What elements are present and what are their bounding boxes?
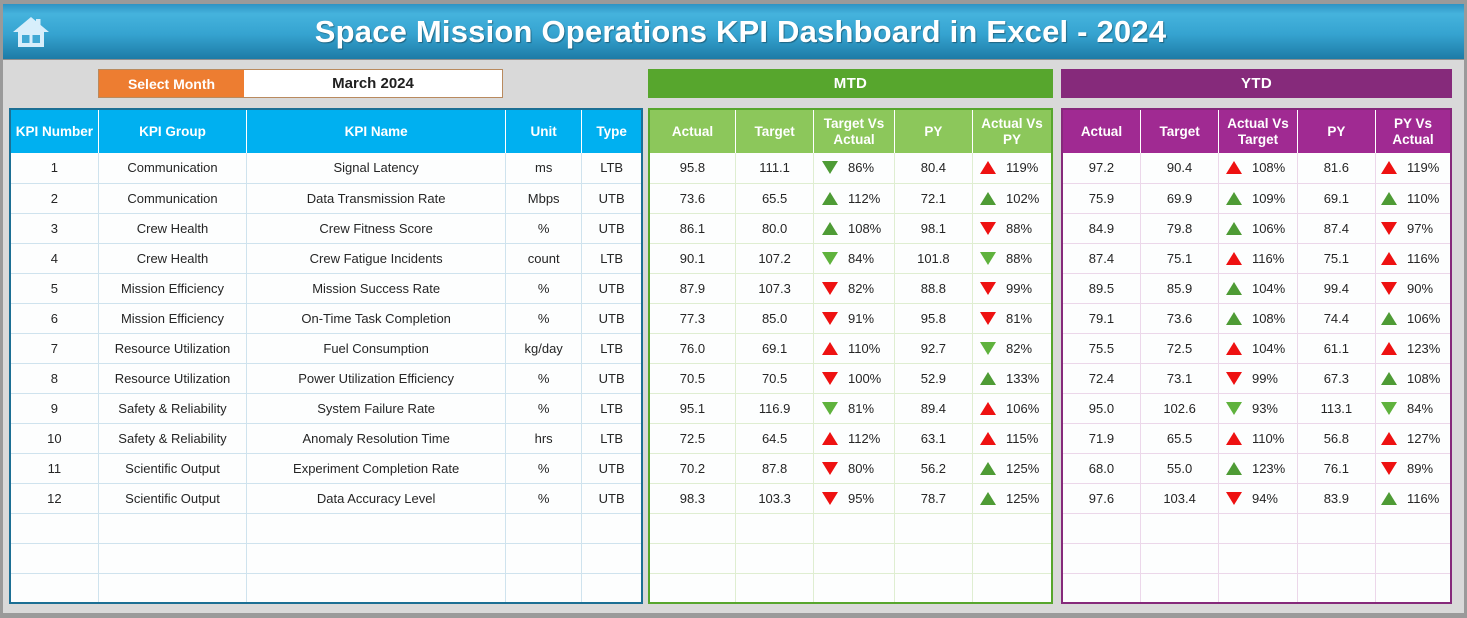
- table-row[interactable]: 70.287.880%56.2125%: [649, 453, 1052, 483]
- mtd-actual-vs-py: [973, 513, 1052, 543]
- kpi-unit: kg/day: [506, 333, 582, 363]
- table-row[interactable]: 9Safety & ReliabilitySystem Failure Rate…: [10, 393, 642, 423]
- ytd-actual-vs-target-value: 106%: [1252, 221, 1290, 236]
- kpi-unit: %: [506, 213, 582, 243]
- table-row[interactable]: 95.8111.186%80.4119%: [649, 153, 1052, 183]
- kpi-group: Scientific Output: [98, 483, 246, 513]
- table-row[interactable]: 76.069.1110%92.782%: [649, 333, 1052, 363]
- trend-up-red-icon: [822, 342, 838, 355]
- col-header-unit[interactable]: Unit: [506, 109, 582, 153]
- table-row[interactable]: 72.564.5112%63.1115%: [649, 423, 1052, 453]
- kpi-group: Crew Health: [98, 213, 246, 243]
- col-header-kpi-name[interactable]: KPI Name: [247, 109, 506, 153]
- mtd-target: 80.0: [735, 213, 813, 243]
- trend-up-red-icon: [1381, 342, 1397, 355]
- kpi-group: Resource Utilization: [98, 363, 246, 393]
- kpi-type: UTB: [582, 483, 642, 513]
- mtd-actual: 77.3: [649, 303, 735, 333]
- ytd-actual: [1062, 543, 1140, 573]
- mtd-py: 80.4: [894, 153, 972, 183]
- ytd-target: 65.5: [1140, 423, 1218, 453]
- kpi-number: 2: [10, 183, 98, 213]
- home-icon[interactable]: [5, 6, 57, 58]
- title-banner: Space Mission Operations KPI Dashboard i…: [3, 4, 1464, 60]
- kpi-type: LTB: [582, 243, 642, 273]
- kpi-number: 1: [10, 153, 98, 183]
- kpi-group: Safety & Reliability: [98, 393, 246, 423]
- mtd-py: [894, 573, 972, 603]
- table-row[interactable]: 72.473.199%67.3108%: [1062, 363, 1451, 393]
- ytd-py-vs-actual-value: 97%: [1407, 221, 1445, 236]
- kpi-name: Crew Fitness Score: [247, 213, 506, 243]
- table-row[interactable]: 89.585.9104%99.490%: [1062, 273, 1451, 303]
- mtd-actual-vs-py-value: 125%: [1006, 491, 1044, 506]
- kpi-name: [247, 513, 506, 543]
- ytd-py-vs-actual: 110%: [1376, 183, 1451, 213]
- ytd-actual: 75.5: [1062, 333, 1140, 363]
- mtd-table: ActualTargetTarget Vs ActualPYActual Vs …: [648, 108, 1053, 604]
- trend-up-green-icon: [980, 462, 996, 475]
- mtd-actual-vs-py: 125%: [973, 453, 1052, 483]
- ytd-col-header-py-vs-actual[interactable]: PY Vs Actual: [1376, 109, 1451, 153]
- ytd-target: 73.1: [1140, 363, 1218, 393]
- ytd-py: 76.1: [1297, 453, 1375, 483]
- mtd-actual: 72.5: [649, 423, 735, 453]
- trend-down-red-icon: [822, 462, 838, 475]
- mtd-target-vs-actual: 91%: [814, 303, 894, 333]
- table-row[interactable]: 95.0102.693%113.184%: [1062, 393, 1451, 423]
- kpi-type: [582, 513, 642, 543]
- trend-down-red-icon: [1226, 492, 1242, 505]
- mtd-actual-vs-py: 133%: [973, 363, 1052, 393]
- trend-down-red-icon: [1226, 372, 1242, 385]
- table-row[interactable]: 71.965.5110%56.8127%: [1062, 423, 1451, 453]
- kpi-number: 7: [10, 333, 98, 363]
- mtd-actual: 70.2: [649, 453, 735, 483]
- kpi-unit: [506, 543, 582, 573]
- mtd-target-vs-actual-value: 108%: [848, 221, 886, 236]
- mtd-actual-vs-py: 115%: [973, 423, 1052, 453]
- ytd-actual-vs-target: [1219, 543, 1297, 573]
- mtd-body: 95.8111.186%80.4119%73.665.5112%72.1102%…: [649, 153, 1052, 603]
- ytd-actual-vs-target-value: 104%: [1252, 341, 1290, 356]
- control-strip: Select Month March 2024 MTD YTD: [3, 64, 1464, 102]
- table-row[interactable]: 77.385.091%95.881%: [649, 303, 1052, 333]
- mtd-py: 95.8: [894, 303, 972, 333]
- kpi-name: Data Accuracy Level: [247, 483, 506, 513]
- mtd-col-header-target[interactable]: Target: [735, 109, 813, 153]
- table-row[interactable]: 70.570.5100%52.9133%: [649, 363, 1052, 393]
- table-row[interactable]: 90.1107.284%101.888%: [649, 243, 1052, 273]
- ytd-py-vs-actual: 106%: [1376, 303, 1451, 333]
- kpi-name: Experiment Completion Rate: [247, 453, 506, 483]
- mtd-target: 116.9: [735, 393, 813, 423]
- kpi-type: UTB: [582, 183, 642, 213]
- mtd-actual-vs-py-value: 125%: [1006, 461, 1044, 476]
- mtd-target-vs-actual-value: 84%: [848, 251, 886, 266]
- ytd-py-vs-actual: 116%: [1376, 483, 1451, 513]
- trend-up-green-icon: [1381, 492, 1397, 505]
- ytd-actual: 87.4: [1062, 243, 1140, 273]
- mtd-target-vs-actual-value: 82%: [848, 281, 886, 296]
- table-row[interactable]: [10, 513, 642, 543]
- ytd-col-header-py[interactable]: PY: [1297, 109, 1375, 153]
- mtd-target-vs-actual-value: 80%: [848, 461, 886, 476]
- ytd-py: 67.3: [1297, 363, 1375, 393]
- ytd-py: 56.8: [1297, 423, 1375, 453]
- ytd-py-vs-actual-value: 90%: [1407, 281, 1445, 296]
- kpi-type: UTB: [582, 453, 642, 483]
- ytd-actual-vs-target-value: 104%: [1252, 281, 1290, 296]
- ytd-target: 72.5: [1140, 333, 1218, 363]
- mtd-actual: 86.1: [649, 213, 735, 243]
- table-row[interactable]: 1CommunicationSignal LatencymsLTB: [10, 153, 642, 183]
- kpi-number: 6: [10, 303, 98, 333]
- mtd-actual-vs-py: 82%: [973, 333, 1052, 363]
- ytd-actual-vs-target-value: 108%: [1252, 160, 1290, 175]
- ytd-py-vs-actual: 127%: [1376, 423, 1451, 453]
- mtd-col-header-target-vs-actual[interactable]: Target Vs Actual: [814, 109, 894, 153]
- kpi-number: [10, 513, 98, 543]
- ytd-py-vs-actual: 123%: [1376, 333, 1451, 363]
- ytd-py: 113.1: [1297, 393, 1375, 423]
- kpi-type: UTB: [582, 273, 642, 303]
- ytd-actual-vs-target: 104%: [1219, 333, 1297, 363]
- ytd-section-band: YTD: [1061, 69, 1452, 98]
- ytd-py-vs-actual-value: 123%: [1407, 341, 1445, 356]
- mtd-actual-vs-py-value: 82%: [1006, 341, 1044, 356]
- ytd-py-vs-actual-value: 116%: [1407, 251, 1445, 266]
- kpi-group: Crew Health: [98, 243, 246, 273]
- ytd-col-header-actual-vs-target[interactable]: Actual Vs Target: [1219, 109, 1297, 153]
- table-row[interactable]: 75.969.9109%69.1110%: [1062, 183, 1451, 213]
- ytd-actual: 95.0: [1062, 393, 1140, 423]
- col-header-kpi-group[interactable]: KPI Group: [98, 109, 246, 153]
- mtd-target-vs-actual: 112%: [814, 183, 894, 213]
- trend-down-lgreen-icon: [1226, 402, 1242, 415]
- ytd-actual: 68.0: [1062, 453, 1140, 483]
- kpi-number: 4: [10, 243, 98, 273]
- mtd-target-vs-actual-value: 100%: [848, 371, 886, 386]
- kpi-number: 5: [10, 273, 98, 303]
- ytd-col-header-target[interactable]: Target: [1140, 109, 1218, 153]
- mtd-actual: 95.1: [649, 393, 735, 423]
- ytd-py: 99.4: [1297, 273, 1375, 303]
- ytd-py-vs-actual: 116%: [1376, 243, 1451, 273]
- ytd-target: 79.8: [1140, 213, 1218, 243]
- ytd-actual: 71.9: [1062, 423, 1140, 453]
- ytd-py: 69.1: [1297, 183, 1375, 213]
- mtd-target-vs-actual: [814, 573, 894, 603]
- kpi-unit: Mbps: [506, 183, 582, 213]
- table-row[interactable]: 4Crew HealthCrew Fatigue IncidentscountL…: [10, 243, 642, 273]
- mtd-col-header-py[interactable]: PY: [894, 109, 972, 153]
- ytd-actual-vs-target-value: 94%: [1252, 491, 1290, 506]
- ytd-header-row: ActualTargetActual Vs TargetPYPY Vs Actu…: [1062, 109, 1451, 153]
- trend-down-lgreen-icon: [822, 402, 838, 415]
- ytd-target: 69.9: [1140, 183, 1218, 213]
- mtd-target: 107.3: [735, 273, 813, 303]
- kpi-number: 9: [10, 393, 98, 423]
- ytd-actual: 72.4: [1062, 363, 1140, 393]
- mtd-py: 78.7: [894, 483, 972, 513]
- table-row[interactable]: 10Safety & ReliabilityAnomaly Resolution…: [10, 423, 642, 453]
- table-row[interactable]: [649, 543, 1052, 573]
- ytd-actual: 97.2: [1062, 153, 1140, 183]
- kpi-group: [98, 573, 246, 603]
- trend-up-green-icon: [1226, 312, 1242, 325]
- trend-down-red-icon: [822, 492, 838, 505]
- table-row[interactable]: 3Crew HealthCrew Fitness Score%UTB: [10, 213, 642, 243]
- table-row[interactable]: 97.6103.494%83.9116%: [1062, 483, 1451, 513]
- mtd-actual: 70.5: [649, 363, 735, 393]
- ytd-py-vs-actual-value: 110%: [1407, 191, 1445, 206]
- mtd-actual-vs-py-value: 133%: [1006, 371, 1044, 386]
- trend-up-green-icon: [1381, 372, 1397, 385]
- mtd-py: 101.8: [894, 243, 972, 273]
- ytd-target: 73.6: [1140, 303, 1218, 333]
- ytd-actual-vs-target: 123%: [1219, 453, 1297, 483]
- ytd-py: [1297, 543, 1375, 573]
- kpi-unit: %: [506, 393, 582, 423]
- kpi-group: Safety & Reliability: [98, 423, 246, 453]
- kpi-unit: %: [506, 453, 582, 483]
- trend-up-green-icon: [822, 222, 838, 235]
- ytd-actual: 75.9: [1062, 183, 1140, 213]
- table-row[interactable]: [1062, 573, 1451, 603]
- mtd-target: 70.5: [735, 363, 813, 393]
- table-row[interactable]: 7Resource UtilizationFuel Consumptionkg/…: [10, 333, 642, 363]
- ytd-target: 90.4: [1140, 153, 1218, 183]
- trend-up-red-icon: [980, 402, 996, 415]
- table-row[interactable]: 87.9107.382%88.899%: [649, 273, 1052, 303]
- ytd-actual-vs-target: 93%: [1219, 393, 1297, 423]
- ytd-actual: 79.1: [1062, 303, 1140, 333]
- kpi-type: LTB: [582, 333, 642, 363]
- kpi-name: On-Time Task Completion: [247, 303, 506, 333]
- mtd-target-vs-actual: 112%: [814, 423, 894, 453]
- ytd-col-header-actual[interactable]: Actual: [1062, 109, 1140, 153]
- mtd-target-vs-actual-value: 86%: [848, 160, 886, 175]
- table-row[interactable]: 12Scientific OutputData Accuracy Level%U…: [10, 483, 642, 513]
- ytd-target: 85.9: [1140, 273, 1218, 303]
- table-row[interactable]: 86.180.0108%98.188%: [649, 213, 1052, 243]
- table-row[interactable]: [10, 573, 642, 603]
- mtd-target-vs-actual: [814, 513, 894, 543]
- ytd-py-vs-actual: 108%: [1376, 363, 1451, 393]
- mtd-py: 63.1: [894, 423, 972, 453]
- mtd-target-vs-actual: 84%: [814, 243, 894, 273]
- mtd-actual-vs-py-value: 99%: [1006, 281, 1044, 296]
- ytd-py: 83.9: [1297, 483, 1375, 513]
- mtd-py: 92.7: [894, 333, 972, 363]
- mtd-actual-vs-py-value: 102%: [1006, 191, 1044, 206]
- ytd-py: 61.1: [1297, 333, 1375, 363]
- mtd-actual-vs-py-value: 88%: [1006, 221, 1044, 236]
- table-row[interactable]: 11Scientific OutputExperiment Completion…: [10, 453, 642, 483]
- mtd-header-row: ActualTargetTarget Vs ActualPYActual Vs …: [649, 109, 1052, 153]
- table-row[interactable]: 8Resource UtilizationPower Utilization E…: [10, 363, 642, 393]
- ytd-actual-vs-target-value: 110%: [1252, 431, 1290, 446]
- trend-down-red-icon: [822, 282, 838, 295]
- kpi-name: [247, 573, 506, 603]
- ytd-py-vs-actual: 119%: [1376, 153, 1451, 183]
- trend-down-lgreen-icon: [980, 342, 996, 355]
- ytd-actual-vs-target: 106%: [1219, 213, 1297, 243]
- table-row[interactable]: 5Mission EfficiencyMission Success Rate%…: [10, 273, 642, 303]
- trend-up-red-icon: [822, 432, 838, 445]
- ytd-py: 81.6: [1297, 153, 1375, 183]
- ytd-py: [1297, 573, 1375, 603]
- month-selector[interactable]: Select Month March 2024: [98, 69, 503, 98]
- table-row[interactable]: 95.1116.981%89.4106%: [649, 393, 1052, 423]
- kpi-info-body: 1CommunicationSignal LatencymsLTB2Commun…: [10, 153, 642, 603]
- mtd-target: [735, 543, 813, 573]
- ytd-py-vs-actual: [1376, 513, 1451, 543]
- mtd-target: [735, 573, 813, 603]
- ytd-actual-vs-target-value: 99%: [1252, 371, 1290, 386]
- mtd-col-header-actual-vs-py[interactable]: Actual Vs PY: [973, 109, 1052, 153]
- table-row[interactable]: 73.665.5112%72.1102%: [649, 183, 1052, 213]
- kpi-number: 12: [10, 483, 98, 513]
- kpi-type: LTB: [582, 423, 642, 453]
- ytd-actual: 84.9: [1062, 213, 1140, 243]
- trend-up-red-icon: [980, 161, 996, 174]
- mtd-target-vs-actual: 108%: [814, 213, 894, 243]
- kpi-name: Mission Success Rate: [247, 273, 506, 303]
- kpi-group: [98, 543, 246, 573]
- ytd-target: 55.0: [1140, 453, 1218, 483]
- mtd-actual-vs-py-value: 88%: [1006, 251, 1044, 266]
- table-row[interactable]: [649, 513, 1052, 543]
- mtd-target-vs-actual: 110%: [814, 333, 894, 363]
- trend-up-green-icon: [1226, 282, 1242, 295]
- table-row[interactable]: 2CommunicationData Transmission RateMbps…: [10, 183, 642, 213]
- mtd-actual-vs-py: 106%: [973, 393, 1052, 423]
- mtd-py: 72.1: [894, 183, 972, 213]
- table-row[interactable]: 75.572.5104%61.1123%: [1062, 333, 1451, 363]
- mtd-actual-vs-py-value: 106%: [1006, 401, 1044, 416]
- ytd-py: 87.4: [1297, 213, 1375, 243]
- mtd-actual: 73.6: [649, 183, 735, 213]
- trend-up-green-icon: [1226, 462, 1242, 475]
- trend-down-green-icon: [822, 161, 838, 174]
- trend-up-red-icon: [1226, 252, 1242, 265]
- ytd-actual-vs-target-value: 109%: [1252, 191, 1290, 206]
- trend-down-red-icon: [980, 282, 996, 295]
- mtd-section-band: MTD: [648, 69, 1053, 98]
- ytd-py-vs-actual: 84%: [1376, 393, 1451, 423]
- trend-down-red-icon: [822, 312, 838, 325]
- mtd-target-vs-actual-value: 81%: [848, 401, 886, 416]
- trend-up-green-icon: [980, 492, 996, 505]
- table-row[interactable]: [10, 543, 642, 573]
- mtd-py: 98.1: [894, 213, 972, 243]
- table-row[interactable]: 84.979.8106%87.497%: [1062, 213, 1451, 243]
- ytd-actual-vs-target-value: 93%: [1252, 401, 1290, 416]
- ytd-actual-vs-target: 109%: [1219, 183, 1297, 213]
- table-row[interactable]: 6Mission EfficiencyOn-Time Task Completi…: [10, 303, 642, 333]
- trend-down-red-icon: [980, 222, 996, 235]
- ytd-actual-vs-target: 94%: [1219, 483, 1297, 513]
- kpi-unit: ms: [506, 153, 582, 183]
- col-header-type[interactable]: Type: [582, 109, 642, 153]
- mtd-actual: [649, 543, 735, 573]
- trend-up-green-icon: [1226, 222, 1242, 235]
- mtd-py: 56.2: [894, 453, 972, 483]
- ytd-actual-vs-target: 108%: [1219, 303, 1297, 333]
- trend-up-green-icon: [1381, 312, 1397, 325]
- kpi-number: 10: [10, 423, 98, 453]
- table-row[interactable]: [649, 573, 1052, 603]
- select-month-label[interactable]: Select Month: [99, 70, 244, 97]
- kpi-number: 3: [10, 213, 98, 243]
- ytd-actual-vs-target: 99%: [1219, 363, 1297, 393]
- table-row[interactable]: 87.475.1116%75.1116%: [1062, 243, 1451, 273]
- mtd-target-vs-actual: 80%: [814, 453, 894, 483]
- table-row[interactable]: 97.290.4108%81.6119%: [1062, 153, 1451, 183]
- mtd-actual: 90.1: [649, 243, 735, 273]
- ytd-py: 75.1: [1297, 243, 1375, 273]
- mtd-target: [735, 513, 813, 543]
- kpi-group: Mission Efficiency: [98, 273, 246, 303]
- trend-up-red-icon: [1226, 161, 1242, 174]
- kpi-number: [10, 573, 98, 603]
- ytd-py-vs-actual: 89%: [1376, 453, 1451, 483]
- kpi-name: Anomaly Resolution Time: [247, 423, 506, 453]
- ytd-actual-vs-target: 108%: [1219, 153, 1297, 183]
- mtd-actual-vs-py: 88%: [973, 213, 1052, 243]
- trend-up-red-icon: [1381, 252, 1397, 265]
- mtd-target: 65.5: [735, 183, 813, 213]
- mtd-target-vs-actual: 86%: [814, 153, 894, 183]
- mtd-col-header-actual[interactable]: Actual: [649, 109, 735, 153]
- kpi-type: UTB: [582, 303, 642, 333]
- mtd-target-vs-actual-value: 112%: [848, 431, 886, 446]
- col-header-kpi-number[interactable]: KPI Number: [10, 109, 98, 153]
- ytd-actual-vs-target-value: 123%: [1252, 461, 1290, 476]
- mtd-actual: 87.9: [649, 273, 735, 303]
- kpi-info-header-row: KPI NumberKPI GroupKPI NameUnitType: [10, 109, 642, 153]
- ytd-py-vs-actual-value: 119%: [1407, 160, 1445, 175]
- mtd-actual-vs-py-value: 81%: [1006, 311, 1044, 326]
- mtd-target-vs-actual-value: 110%: [848, 341, 886, 356]
- mtd-actual-vs-py: [973, 543, 1052, 573]
- trend-up-green-icon: [980, 192, 996, 205]
- ytd-py-vs-actual-value: 89%: [1407, 461, 1445, 476]
- kpi-number: 8: [10, 363, 98, 393]
- kpi-number: 11: [10, 453, 98, 483]
- table-row[interactable]: 68.055.0123%76.189%: [1062, 453, 1451, 483]
- mtd-target: 103.3: [735, 483, 813, 513]
- selected-month-value[interactable]: March 2024: [244, 70, 502, 97]
- table-row[interactable]: [1062, 543, 1451, 573]
- trend-down-red-icon: [822, 372, 838, 385]
- kpi-group: [98, 513, 246, 543]
- mtd-py: 88.8: [894, 273, 972, 303]
- trend-up-green-icon: [822, 192, 838, 205]
- trend-down-lgreen-icon: [1381, 402, 1397, 415]
- trend-down-lgreen-icon: [980, 252, 996, 265]
- kpi-number: [10, 543, 98, 573]
- table-row[interactable]: 79.173.6108%74.4106%: [1062, 303, 1451, 333]
- mtd-actual-vs-py: 102%: [973, 183, 1052, 213]
- ytd-actual-vs-target: 116%: [1219, 243, 1297, 273]
- table-row[interactable]: [1062, 513, 1451, 543]
- ytd-actual: 89.5: [1062, 273, 1140, 303]
- kpi-unit: count: [506, 243, 582, 273]
- table-row[interactable]: 98.3103.395%78.7125%: [649, 483, 1052, 513]
